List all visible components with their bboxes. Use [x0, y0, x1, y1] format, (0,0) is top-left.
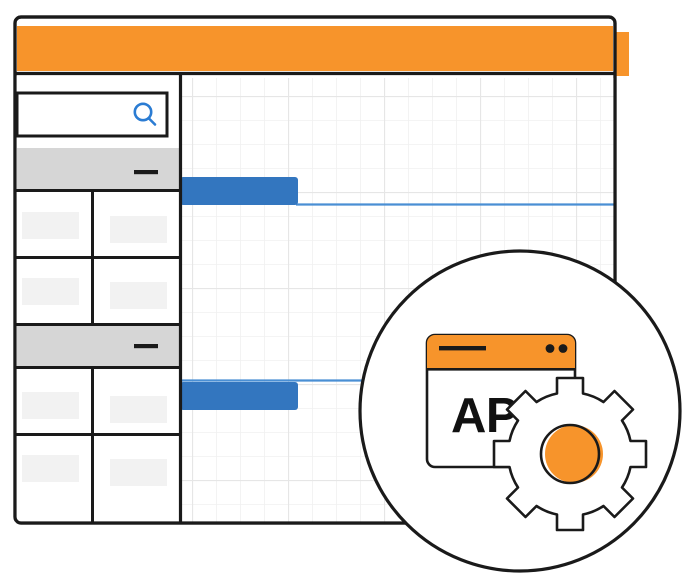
- minus-icon[interactable]: [134, 344, 158, 348]
- illustration-stage: API: [0, 0, 700, 582]
- window-titlebar-lip: [427, 363, 575, 368]
- task-search-field[interactable]: [17, 93, 167, 136]
- cell-placeholder: [22, 278, 79, 305]
- task-list-sidebar[interactable]: [15, 74, 181, 523]
- settings-gear-icon[interactable]: [494, 378, 646, 530]
- group-header-1[interactable]: [15, 148, 180, 191]
- cell-placeholder: [22, 392, 79, 419]
- window-title-line: [439, 346, 486, 350]
- cell-placeholder: [22, 212, 79, 239]
- cell-placeholder: [110, 282, 167, 309]
- cell-placeholder: [22, 455, 79, 482]
- cell-placeholder: [110, 396, 167, 423]
- cell-placeholder: [110, 216, 167, 243]
- app-toolbar[interactable]: [15, 26, 615, 74]
- gantt-bar-1[interactable]: [180, 177, 298, 205]
- gantt-bar-2[interactable]: [180, 382, 298, 410]
- task-row-1[interactable]: [15, 192, 180, 258]
- task-row-3[interactable]: [15, 369, 180, 435]
- api-magnifier-circle[interactable]: API: [360, 251, 680, 571]
- task-row-4[interactable]: [17, 436, 180, 523]
- gear-hub-fill: [545, 425, 603, 483]
- window-dot-1: [546, 344, 555, 353]
- window-dot-2: [559, 344, 568, 353]
- minus-icon[interactable]: [134, 170, 158, 174]
- cell-placeholder: [110, 459, 167, 486]
- task-row-2[interactable]: [17, 259, 180, 324]
- group-header-2[interactable]: [15, 325, 180, 368]
